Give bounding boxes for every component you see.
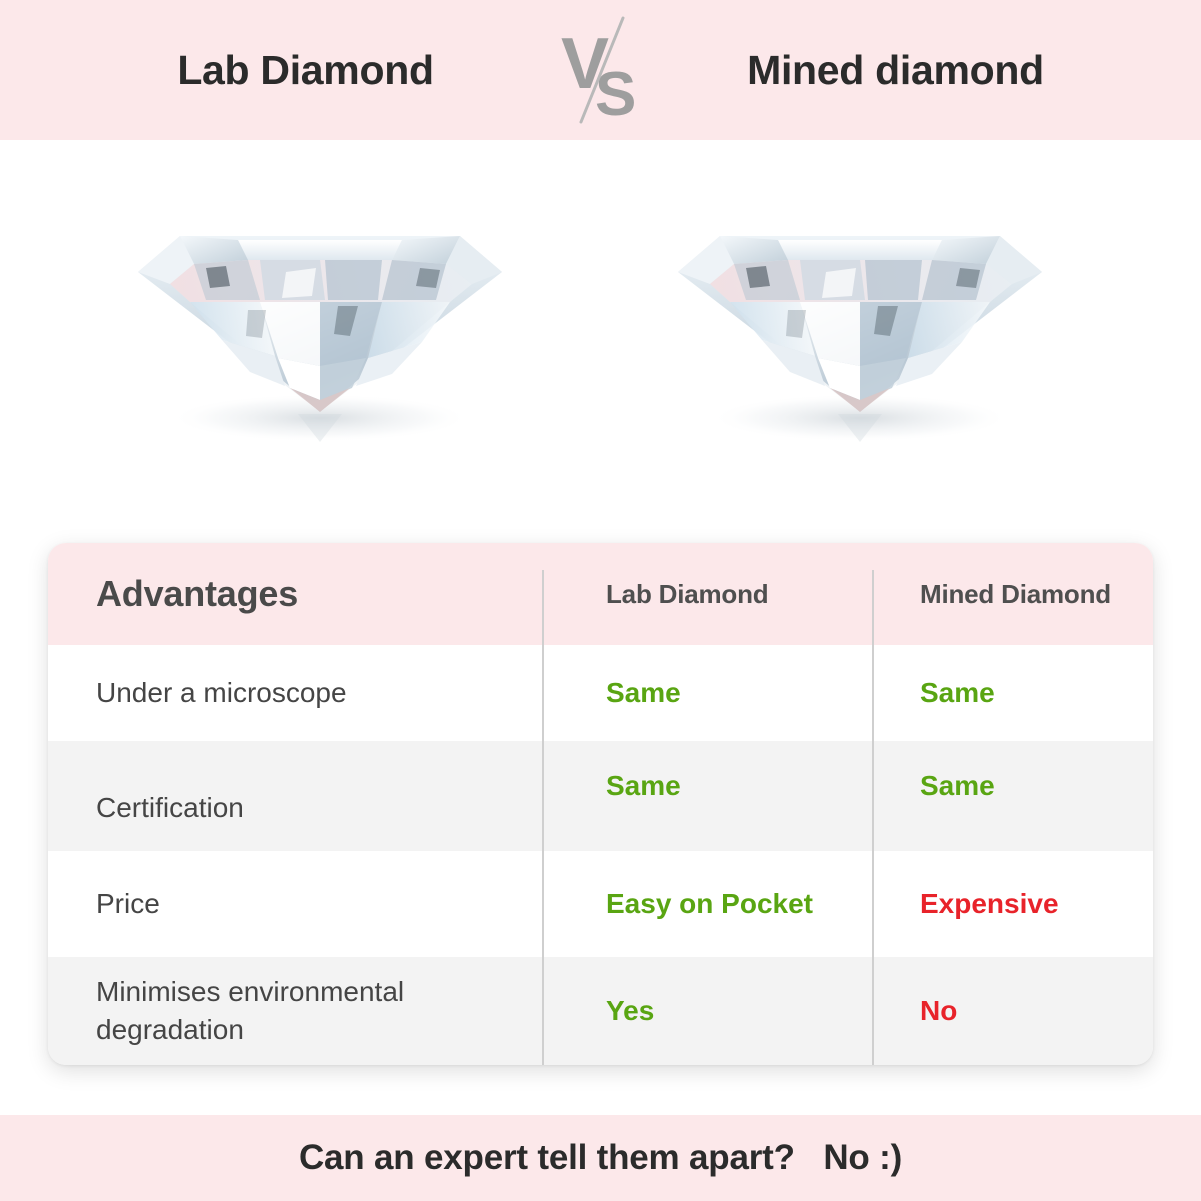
mined-diamond-photo	[650, 160, 1070, 460]
column-divider-2	[872, 570, 874, 1065]
column-header-lab-diamond: Lab Diamond	[606, 579, 768, 610]
page-title-lab-diamond: Lab Diamond	[71, 47, 541, 94]
column-header-mined-diamond: Mined Diamond	[920, 579, 1111, 610]
table-row: Under a microscope Same Same	[48, 645, 1153, 741]
row-lab-value-cell: Same	[542, 645, 872, 741]
row-lab-value: Yes	[606, 995, 654, 1027]
table-row: Minimises environmental degradation Yes …	[48, 957, 1153, 1065]
row-mined-value-cell: Same	[872, 741, 1153, 851]
column-divider-1	[542, 570, 544, 1065]
row-mined-value-cell: No	[872, 957, 1153, 1065]
row-label: Price	[96, 885, 160, 923]
table-row: Certification Same Same	[48, 741, 1153, 851]
versus-icon: V S	[541, 10, 661, 130]
row-lab-value: Same	[606, 677, 681, 709]
row-lab-value-cell: Easy on Pocket	[542, 851, 872, 957]
row-label: Under a microscope	[96, 674, 347, 712]
row-mined-value: Expensive	[920, 888, 1059, 920]
row-lab-value: Same	[606, 770, 681, 802]
row-label-cell: Price	[48, 851, 542, 957]
row-mined-value-cell: Expensive	[872, 851, 1153, 957]
top-banner: Lab Diamond V S Mined diamond	[0, 0, 1201, 140]
table-header-row: Advantages Lab Diamond Mined Diamond	[48, 543, 1153, 645]
column-header-advantages: Advantages	[96, 573, 298, 615]
row-label-cell: Minimises environmental degradation	[48, 957, 542, 1065]
page-title-mined-diamond: Mined diamond	[661, 47, 1131, 94]
header-cell-lab-diamond: Lab Diamond	[542, 543, 872, 645]
bottom-banner: Can an expert tell them apart? No :)	[0, 1115, 1201, 1201]
row-label-cell: Certification	[48, 741, 542, 851]
table-row: Price Easy on Pocket Expensive	[48, 851, 1153, 957]
row-mined-value: Same	[920, 770, 995, 802]
row-label: Minimises environmental degradation	[96, 973, 516, 1049]
header-cell-advantages: Advantages	[48, 543, 542, 645]
diamond-image-area	[0, 140, 1201, 540]
row-label: Certification	[96, 789, 244, 827]
row-mined-value-cell: Same	[872, 645, 1153, 741]
row-lab-value-cell: Same	[542, 741, 872, 851]
row-label-cell: Under a microscope	[48, 645, 542, 741]
row-mined-value: Same	[920, 677, 995, 709]
header-cell-mined-diamond: Mined Diamond	[872, 543, 1153, 645]
footer-question: Can an expert tell them apart? No :)	[299, 1138, 902, 1178]
row-lab-value: Easy on Pocket	[606, 888, 813, 920]
comparison-table-card: Advantages Lab Diamond Mined Diamond Und…	[48, 543, 1153, 1065]
row-mined-value: No	[920, 995, 957, 1027]
lab-diamond-photo	[110, 160, 530, 460]
row-lab-value-cell: Yes	[542, 957, 872, 1065]
